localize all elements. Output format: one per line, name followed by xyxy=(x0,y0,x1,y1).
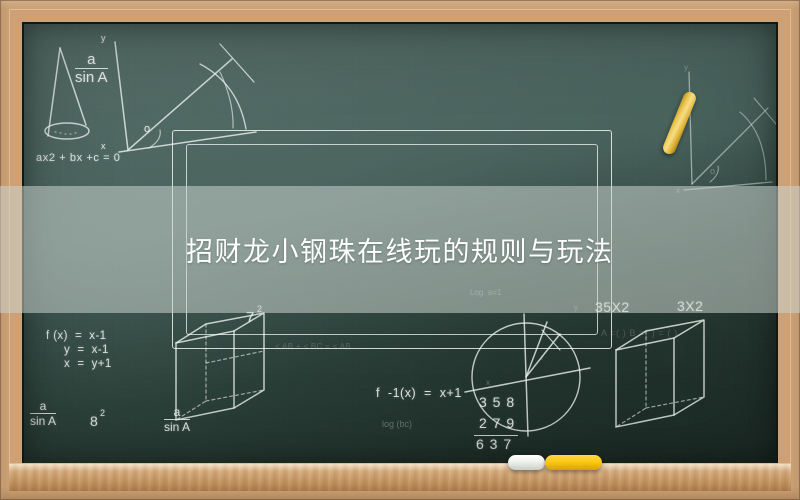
fraction-a-over-sin-a-bottomcenter: a sin A xyxy=(164,406,190,433)
chalk-tray-ledge xyxy=(9,463,791,491)
function-line-2: y = x-1 xyxy=(64,344,109,356)
inverse-function-equation: f -1(x) = x+1 xyxy=(376,387,462,400)
eight-squared-exponent: 2 xyxy=(100,409,105,418)
title-overlay-band: 招财龙小钢珠在线玩的规则与玩法 xyxy=(0,186,800,313)
axis-label-y-topleft: y xyxy=(101,34,106,43)
long-sum-result: 6 3 7 xyxy=(476,437,512,452)
fraction-denominator: sin A xyxy=(75,70,108,85)
fraction-numerator: a xyxy=(75,52,108,67)
fraction-denominator: sin A xyxy=(30,415,56,427)
circle-axis-x-label: x xyxy=(486,379,490,387)
ledge-highlight xyxy=(9,464,791,471)
long-sum-row-1: 3 5 8 xyxy=(479,395,515,410)
long-sum-row-2: 2 7 9 xyxy=(479,416,515,431)
quadratic-equation: ax2 + bx +c = 0 xyxy=(36,153,121,165)
function-line-1: f (x) = x-1 xyxy=(46,330,106,342)
angle-diagram-right xyxy=(684,72,776,190)
thumbnail-stage: a sin A y x o ax2 + bx +c = 0 y x o f (x… xyxy=(0,0,800,500)
page-title: 招财龙小钢珠在线玩的规则与玩法 xyxy=(186,230,614,269)
angle-label-topleft: o xyxy=(144,124,150,136)
yellow-chalk-in-tray-icon xyxy=(545,455,602,470)
axis-label-y-right: y xyxy=(684,64,688,72)
fraction-a-over-sin-a-topleft: a sin A xyxy=(75,52,108,85)
fraction-numerator: a xyxy=(164,406,190,418)
function-line-3: x = y+1 xyxy=(64,358,112,370)
fraction-denominator: sin A xyxy=(164,421,190,433)
fraction-a-over-sin-a-bottomleft: a sin A xyxy=(30,400,56,427)
matrix-notation: A =( ) B =( ) = ( ) xyxy=(601,329,678,338)
circle-radius-label: r xyxy=(541,354,544,362)
axis-label-x-topleft: x xyxy=(101,142,106,151)
white-chalk-in-tray-icon xyxy=(508,455,545,470)
angle-label-right: o xyxy=(710,167,715,176)
fraction-numerator: a xyxy=(30,400,56,412)
log-bc-label: log (bc) xyxy=(382,420,412,429)
eight-squared-base: 8 xyxy=(90,414,98,429)
